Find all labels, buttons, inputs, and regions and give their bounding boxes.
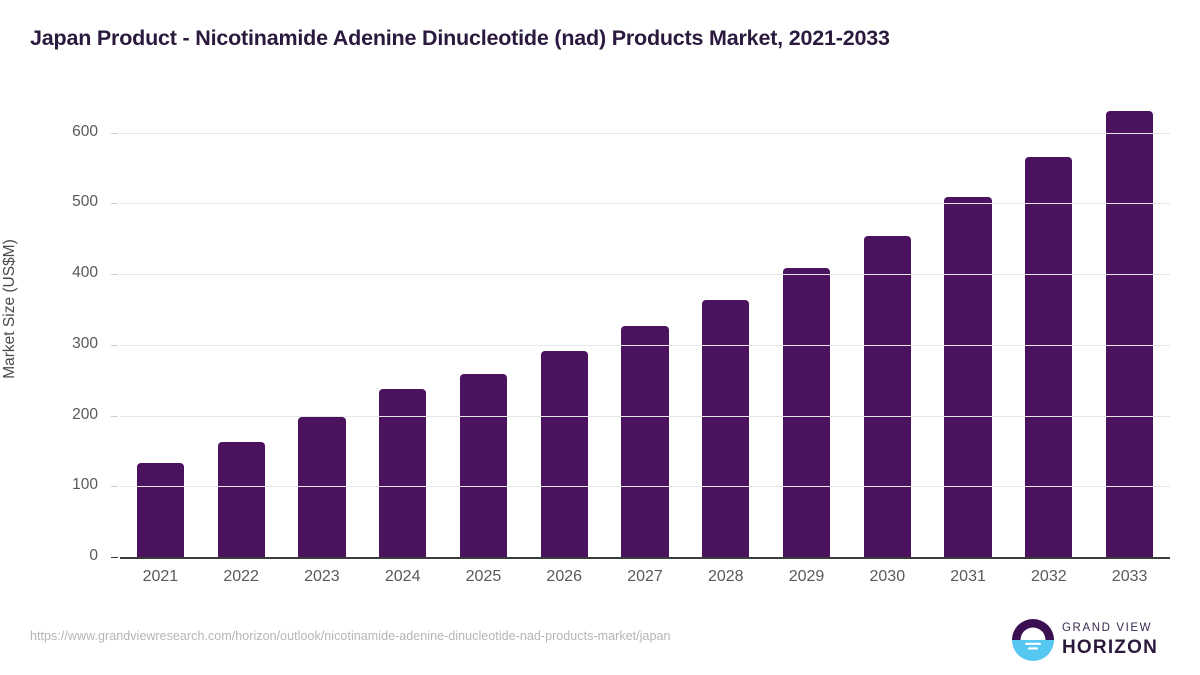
logo-wordmark: GRAND VIEW HORIZON [1062,623,1158,657]
gridline [120,203,1170,204]
bar[interactable] [783,268,830,557]
y-tick-mark [111,416,118,417]
x-axis-tick-label: 2027 [605,568,686,586]
gridline [120,345,1170,346]
bar[interactable] [460,374,507,557]
x-axis-tick-label: 2025 [443,568,524,586]
chart-page: Japan Product - Nicotinamide Adenine Din… [0,0,1200,675]
x-axis-tick-label: 2030 [847,568,928,586]
y-axis-tick-label: 100 [38,476,98,494]
x-axis-tick-label: 2021 [120,568,201,586]
y-tick-mark [111,203,118,204]
x-axis-tick-label: 2024 [362,568,443,586]
y-axis-tick-label: 0 [38,547,98,565]
y-axis-tick-label: 300 [38,335,98,353]
bar[interactable] [621,326,668,557]
x-axis-tick-labels: 2021202220232024202520262027202820292030… [120,568,1170,596]
y-tick-mark [111,345,118,346]
gridline [120,486,1170,487]
bar[interactable] [702,300,749,557]
y-axis-tick-label: 500 [38,193,98,211]
horizon-sun-circle-icon [1012,619,1054,661]
bar[interactable] [379,389,426,557]
x-axis-tick-label: 2033 [1089,568,1170,586]
x-axis-tick-label: 2026 [524,568,605,586]
x-axis-tick-label: 2028 [685,568,766,586]
x-axis-tick-label: 2023 [282,568,363,586]
y-tick-mark [111,133,118,134]
gridline [120,133,1170,134]
gridline [120,416,1170,417]
x-axis-tick-label: 2032 [1008,568,1089,586]
y-axis-tick-label: 400 [38,264,98,282]
bar[interactable] [1106,111,1153,557]
y-tick-mark [111,557,118,558]
bar[interactable] [1025,157,1072,557]
plot-axes [120,100,1170,557]
x-axis-tick-label: 2022 [201,568,282,586]
gridline [120,274,1170,275]
x-axis-tick-label: 2031 [928,568,1009,586]
bar-series [120,100,1170,557]
logo-text-top: GRAND VIEW [1062,623,1158,635]
y-axis-tick-label: 200 [38,406,98,424]
bar[interactable] [864,236,911,557]
chart-plot-wrapper: Market Size (US$M) 0100200300400500600 2… [0,0,1200,675]
bar[interactable] [137,463,184,557]
x-axis-line [120,557,1170,559]
y-tick-mark [111,486,118,487]
bar[interactable] [944,197,991,557]
x-axis-tick-label: 2029 [766,568,847,586]
y-axis-tick-label: 600 [38,123,98,141]
bar[interactable] [541,351,588,557]
logo-text-bottom: HORIZON [1062,638,1158,657]
bar[interactable] [218,442,265,557]
brand-logo[interactable]: GRAND VIEW HORIZON [1012,618,1172,662]
source-url[interactable]: https://www.grandviewresearch.com/horizo… [30,629,671,643]
y-tick-mark [111,274,118,275]
